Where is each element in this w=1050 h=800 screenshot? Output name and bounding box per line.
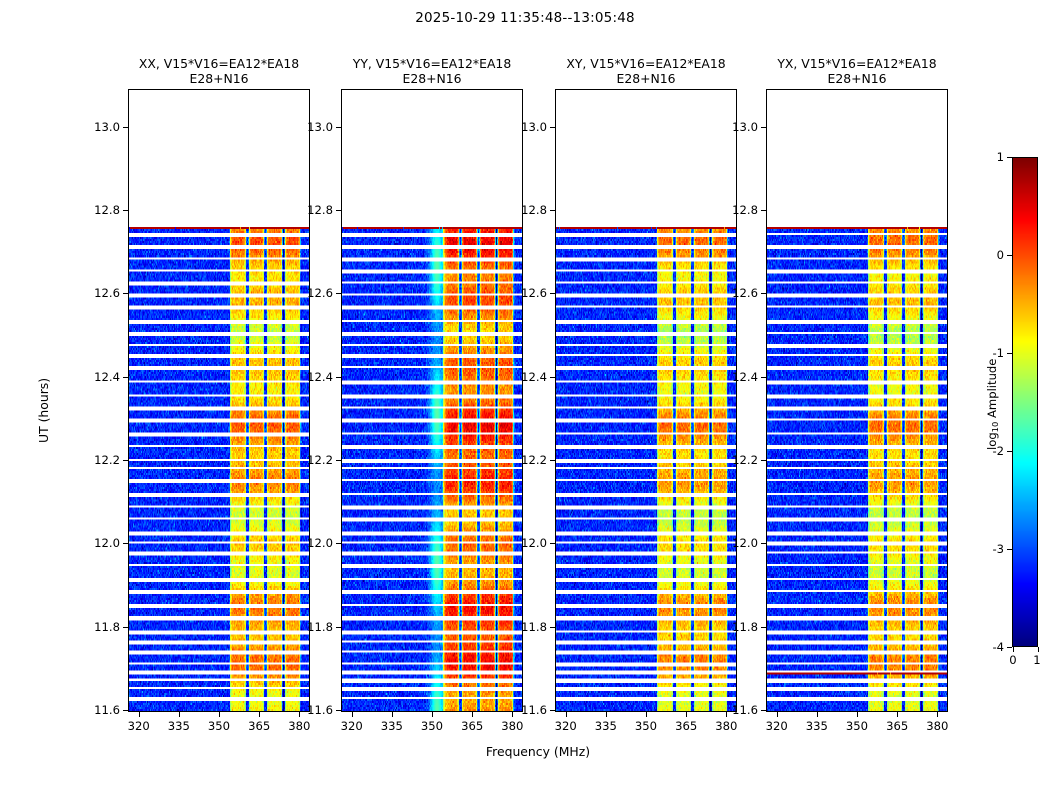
colorbar-tick-mark xyxy=(1007,647,1012,648)
x-tick-mark xyxy=(777,712,778,717)
x-tick-mark xyxy=(897,712,898,717)
y-tick-mark xyxy=(550,710,555,711)
y-tick-mark xyxy=(336,293,341,294)
y-tick-label: 12.8 xyxy=(503,203,547,217)
y-tick-label: 13.0 xyxy=(503,120,547,134)
y-tick-mark xyxy=(550,460,555,461)
colorbar-tick-mark xyxy=(1007,255,1012,256)
y-tick-label: 12.4 xyxy=(714,370,758,384)
x-tick-mark xyxy=(857,712,858,717)
y-tick-label: 12.0 xyxy=(76,536,120,550)
y-tick-label: 13.0 xyxy=(714,120,758,134)
y-tick-mark xyxy=(336,543,341,544)
y-tick-mark xyxy=(550,627,555,628)
y-tick-label: 11.6 xyxy=(289,703,333,717)
y-tick-label: 12.8 xyxy=(76,203,120,217)
x-tick-mark xyxy=(392,712,393,717)
y-tick-mark xyxy=(761,460,766,461)
x-tick-label: 350 xyxy=(626,719,666,733)
x-tick-label: 350 xyxy=(837,719,877,733)
x-tick-label: 335 xyxy=(797,719,837,733)
y-tick-mark xyxy=(123,627,128,628)
colorbar-tick-mark xyxy=(1007,353,1012,354)
y-tick-mark xyxy=(550,127,555,128)
spectrogram-image xyxy=(767,227,948,711)
x-tick-label: 320 xyxy=(757,719,797,733)
x-tick-mark xyxy=(937,712,938,717)
colorbar-tick-mark xyxy=(1007,157,1012,158)
y-tick-label: 12.0 xyxy=(503,536,547,550)
y-tick-label: 12.4 xyxy=(289,370,333,384)
y-tick-label: 12.6 xyxy=(76,286,120,300)
spectrogram-yy xyxy=(342,227,523,711)
colorbar-bottom-tick-mark xyxy=(1013,647,1014,652)
colorbar xyxy=(1012,157,1038,647)
x-tick-mark xyxy=(219,712,220,717)
y-tick-label: 11.8 xyxy=(503,620,547,634)
y-tick-label: 11.6 xyxy=(76,703,120,717)
x-tick-mark xyxy=(646,712,647,717)
x-axis-label: Frequency (MHz) xyxy=(128,744,948,759)
x-tick-mark xyxy=(352,712,353,717)
plot-area-xx[interactable] xyxy=(128,89,310,712)
y-tick-mark xyxy=(550,377,555,378)
x-tick-label: 335 xyxy=(372,719,412,733)
x-tick-mark xyxy=(179,712,180,717)
plot-area-yy[interactable] xyxy=(341,89,523,712)
y-tick-mark xyxy=(550,543,555,544)
panel-title-yx: YX, V15*V16=EA12*EA18E28+N16 xyxy=(727,56,987,86)
y-tick-mark xyxy=(761,377,766,378)
x-tick-label: 365 xyxy=(239,719,279,733)
x-tick-label: 365 xyxy=(877,719,917,733)
y-tick-label: 12.2 xyxy=(503,453,547,467)
y-tick-mark xyxy=(336,627,341,628)
y-tick-mark xyxy=(123,377,128,378)
y-tick-label: 11.6 xyxy=(503,703,547,717)
y-tick-label: 12.2 xyxy=(714,453,758,467)
x-tick-label: 350 xyxy=(412,719,452,733)
x-tick-label: 365 xyxy=(452,719,492,733)
x-tick-label: 320 xyxy=(119,719,159,733)
y-tick-label: 12.4 xyxy=(76,370,120,384)
y-tick-mark xyxy=(123,210,128,211)
x-tick-label: 380 xyxy=(279,719,319,733)
y-tick-mark xyxy=(761,543,766,544)
spectrogram-image xyxy=(342,227,523,711)
colorbar-gradient xyxy=(1013,158,1037,646)
y-tick-mark xyxy=(761,293,766,294)
x-tick-mark xyxy=(259,712,260,717)
y-tick-label: 12.0 xyxy=(714,536,758,550)
y-tick-mark xyxy=(550,293,555,294)
y-tick-mark xyxy=(123,460,128,461)
y-tick-mark xyxy=(336,210,341,211)
colorbar-label: log10 Amplitude xyxy=(985,359,1000,450)
figure-suptitle: 2025-10-29 11:35:48--13:05:48 xyxy=(0,10,1050,26)
y-tick-label: 12.2 xyxy=(289,453,333,467)
x-tick-mark xyxy=(606,712,607,717)
plot-area-yx[interactable] xyxy=(766,89,948,712)
y-tick-mark xyxy=(123,293,128,294)
colorbar-label-sub: 10 xyxy=(990,422,1000,433)
x-tick-label: 320 xyxy=(332,719,372,733)
y-tick-mark xyxy=(336,377,341,378)
y-tick-label: 12.6 xyxy=(714,286,758,300)
colorbar-bottom-tick-mark xyxy=(1038,647,1039,652)
y-tick-label: 12.6 xyxy=(503,286,547,300)
x-tick-mark xyxy=(139,712,140,717)
y-tick-mark xyxy=(336,710,341,711)
y-tick-mark xyxy=(123,710,128,711)
panel-title-line1: YX, V15*V16=EA12*EA18 xyxy=(727,56,987,71)
spectrogram-image xyxy=(129,227,310,711)
y-tick-mark xyxy=(336,127,341,128)
y-tick-mark xyxy=(550,210,555,211)
x-tick-label: 365 xyxy=(666,719,706,733)
y-tick-label: 12.8 xyxy=(714,203,758,217)
colorbar-tick-mark xyxy=(1007,451,1012,452)
y-tick-label: 11.6 xyxy=(714,703,758,717)
colorbar-tick-label: -4 xyxy=(964,640,1004,654)
y-tick-label: 13.0 xyxy=(76,120,120,134)
y-tick-mark xyxy=(336,460,341,461)
y-tick-mark xyxy=(761,210,766,211)
x-tick-label: 335 xyxy=(159,719,199,733)
y-tick-label: 11.8 xyxy=(76,620,120,634)
x-tick-mark xyxy=(472,712,473,717)
colorbar-tick-label: -2 xyxy=(964,444,1004,458)
x-tick-label: 380 xyxy=(917,719,957,733)
y-tick-mark xyxy=(123,127,128,128)
y-tick-label: 11.8 xyxy=(289,620,333,634)
colorbar-tick-label: -1 xyxy=(964,346,1004,360)
colorbar-tick-label: 1 xyxy=(964,150,1004,164)
y-tick-label: 11.8 xyxy=(714,620,758,634)
x-tick-mark xyxy=(686,712,687,717)
x-tick-label: 320 xyxy=(546,719,586,733)
plot-area-xy[interactable] xyxy=(555,89,737,712)
colorbar-label-suffix: Amplitude xyxy=(985,359,999,422)
y-axis-label: UT (hours) xyxy=(36,377,51,442)
colorbar-tick-mark xyxy=(1007,549,1012,550)
x-tick-mark xyxy=(432,712,433,717)
y-tick-label: 12.2 xyxy=(76,453,120,467)
colorbar-bottom-tick-label: 0 xyxy=(1006,653,1020,667)
panel-title-line2: E28+N16 xyxy=(727,71,987,86)
spectrogram-yx xyxy=(767,227,948,711)
colorbar-bottom-tick-label: 1 xyxy=(1030,653,1044,667)
x-tick-label: 350 xyxy=(199,719,239,733)
spectrogram-image xyxy=(556,227,737,711)
y-tick-mark xyxy=(761,127,766,128)
y-tick-mark xyxy=(761,710,766,711)
x-tick-mark xyxy=(566,712,567,717)
y-tick-label: 12.4 xyxy=(503,370,547,384)
y-tick-mark xyxy=(761,627,766,628)
y-tick-label: 12.6 xyxy=(289,286,333,300)
y-tick-label: 12.8 xyxy=(289,203,333,217)
x-tick-mark xyxy=(817,712,818,717)
y-tick-label: 13.0 xyxy=(289,120,333,134)
spectrogram-xx xyxy=(129,227,310,711)
x-tick-label: 380 xyxy=(492,719,532,733)
x-tick-label: 335 xyxy=(586,719,626,733)
spectrogram-xy xyxy=(556,227,737,711)
colorbar-tick-label: 0 xyxy=(964,248,1004,262)
x-tick-label: 380 xyxy=(706,719,746,733)
colorbar-tick-label: -3 xyxy=(964,542,1004,556)
y-tick-label: 12.0 xyxy=(289,536,333,550)
y-tick-mark xyxy=(123,543,128,544)
